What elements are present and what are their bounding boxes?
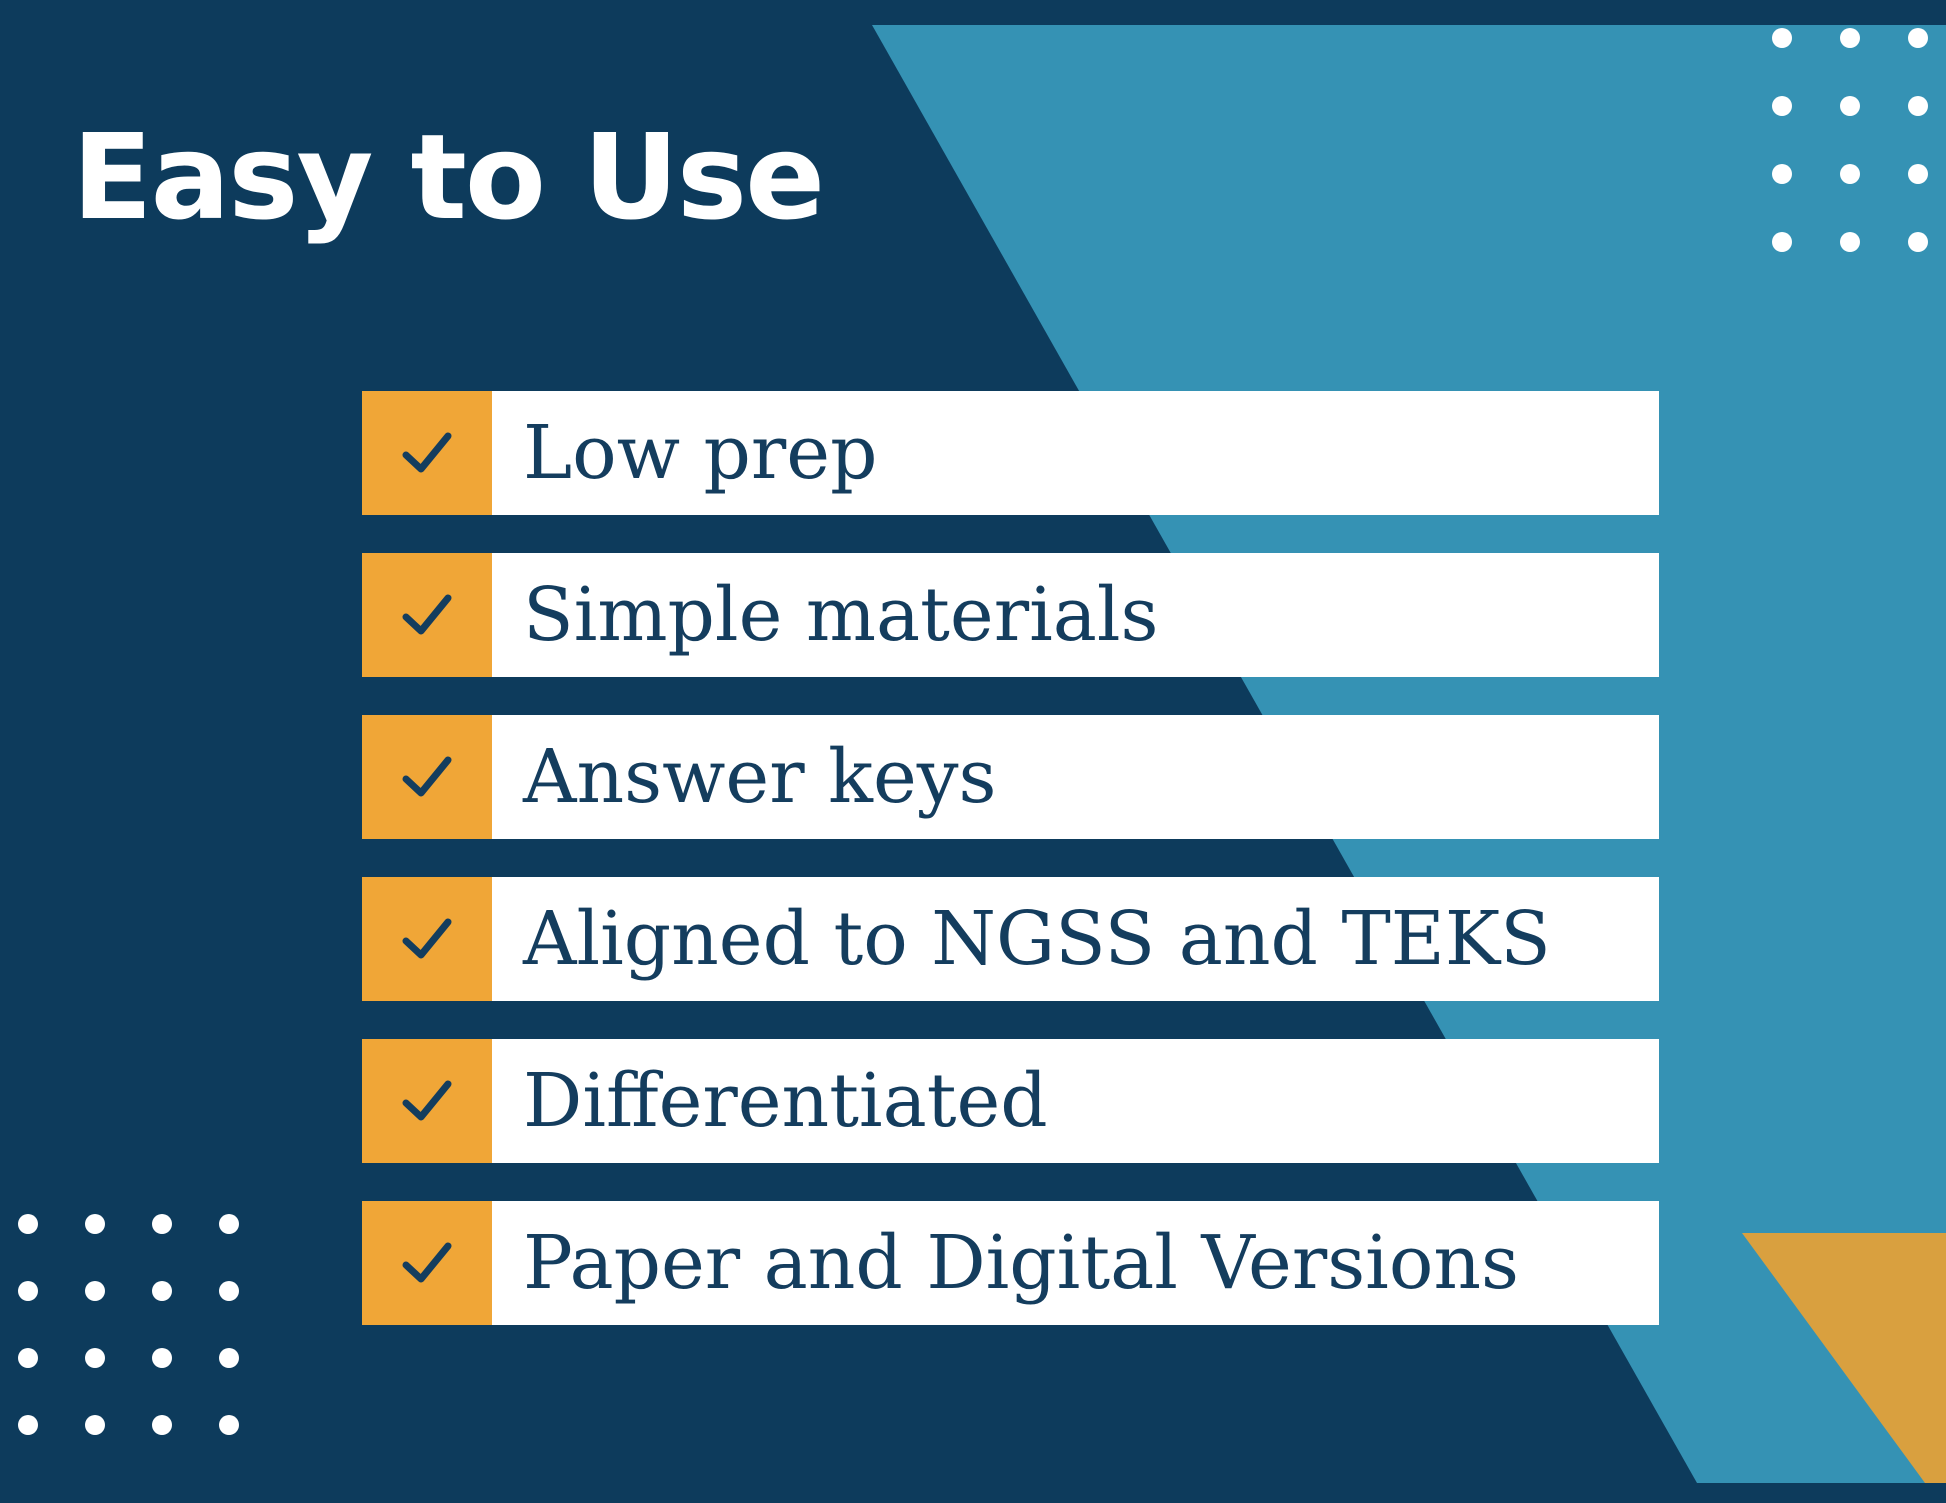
page-title: Easy to Use [72, 118, 823, 236]
dot [18, 1415, 38, 1435]
dot [1772, 164, 1792, 184]
checklist-item-paper-and-digital-versions[interactable]: Paper and Digital Versions [362, 1201, 1659, 1325]
checklist-item-simple-materials[interactable]: Simple materials [362, 553, 1659, 677]
dot [1840, 28, 1860, 48]
dot [1908, 28, 1928, 48]
dot [219, 1348, 239, 1368]
dot-grid-top-right [1772, 28, 1928, 252]
checkbox-simple-materials[interactable] [362, 553, 492, 677]
dot [152, 1281, 172, 1301]
dot [1840, 232, 1860, 252]
dot [152, 1348, 172, 1368]
dot [1840, 164, 1860, 184]
checklist-item-differentiated[interactable]: Differentiated [362, 1039, 1659, 1163]
dot [1772, 232, 1792, 252]
check-icon [396, 1070, 458, 1132]
dot [1908, 96, 1928, 116]
checklist: Low prep Simple materials Answer keys [362, 391, 1659, 1325]
checkbox-low-prep[interactable] [362, 391, 492, 515]
checklist-item-label: Simple materials [492, 553, 1659, 677]
dot [1908, 164, 1928, 184]
check-icon [396, 908, 458, 970]
dot-grid-bottom-left [18, 1214, 239, 1435]
checklist-item-label: Differentiated [492, 1039, 1659, 1163]
navy-bottom-bar [0, 1483, 1946, 1503]
check-icon [396, 584, 458, 646]
checkbox-differentiated[interactable] [362, 1039, 492, 1163]
checkbox-answer-keys[interactable] [362, 715, 492, 839]
dot [1772, 28, 1792, 48]
checklist-item-low-prep[interactable]: Low prep [362, 391, 1659, 515]
dot [85, 1214, 105, 1234]
checklist-item-answer-keys[interactable]: Answer keys [362, 715, 1659, 839]
dot [219, 1281, 239, 1301]
navy-top-bar [0, 0, 1946, 25]
check-icon [396, 746, 458, 808]
dot [18, 1214, 38, 1234]
dot [1772, 96, 1792, 116]
dot [85, 1415, 105, 1435]
dot [152, 1415, 172, 1435]
checklist-item-aligned-to-ngss-and-teks[interactable]: Aligned to NGSS and TEKS [362, 877, 1659, 1001]
check-icon [396, 1232, 458, 1294]
dot [85, 1348, 105, 1368]
dot [219, 1214, 239, 1234]
dot [18, 1281, 38, 1301]
dot [1908, 232, 1928, 252]
dot [219, 1415, 239, 1435]
checklist-item-label: Paper and Digital Versions [492, 1201, 1659, 1325]
check-icon [396, 422, 458, 484]
dot [85, 1281, 105, 1301]
checkbox-paper-and-digital-versions[interactable] [362, 1201, 492, 1325]
slide-canvas: Easy to Use Low prep Simple materials [0, 0, 1946, 1503]
dot [1840, 96, 1860, 116]
dot [18, 1348, 38, 1368]
checklist-item-label: Low prep [492, 391, 1659, 515]
checklist-item-label: Answer keys [492, 715, 1659, 839]
checkbox-aligned-to-ngss-and-teks[interactable] [362, 877, 492, 1001]
checklist-item-label: Aligned to NGSS and TEKS [492, 877, 1659, 1001]
dot [152, 1214, 172, 1234]
